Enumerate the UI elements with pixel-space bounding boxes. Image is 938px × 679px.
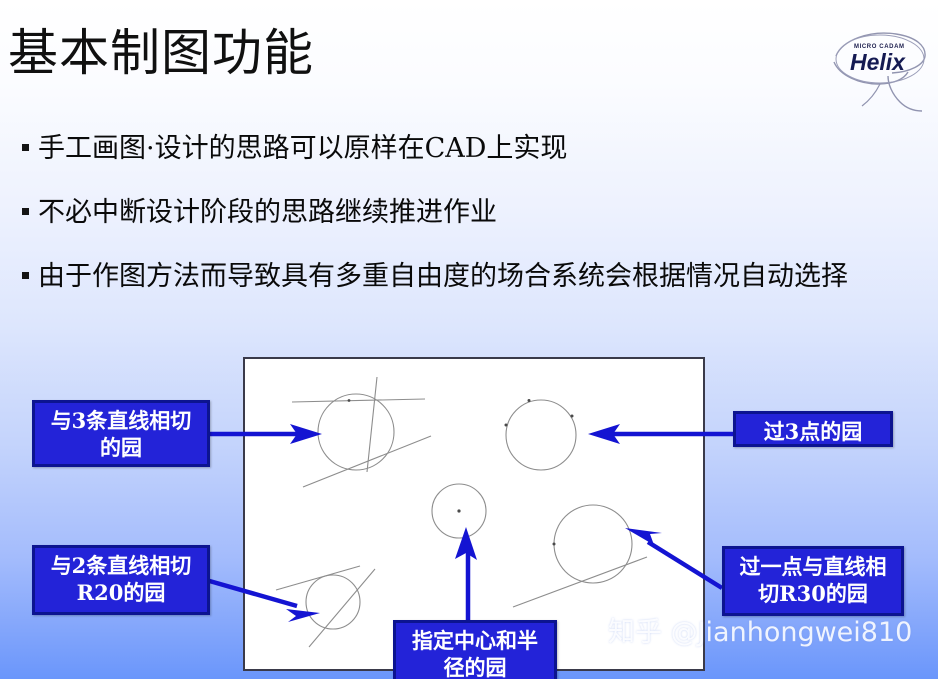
callout-tangent-3-lines[interactable]: 与3条直线相切的园: [32, 400, 210, 467]
slide-canvas: 基本制图功能 MICRO CADAM Helix 手工画图·设计的思路可以原样在…: [0, 0, 938, 679]
figure-circle-through-3-points: [505, 399, 577, 470]
watermark: 知乎 @Jianhongwei810: [608, 616, 912, 650]
page-title: 基本制图功能: [8, 24, 314, 82]
bullet-marker-icon: [22, 208, 29, 215]
callout-through-point-tangent-r30[interactable]: 过一点与直线相切R30的园: [722, 546, 904, 616]
bullet-text: 手工画图·设计的思路可以原样在CAD上实现: [38, 133, 567, 164]
logo-main-text: Helix: [850, 49, 906, 75]
bullet-marker-icon: [22, 144, 29, 151]
figure-circle-through-point-tangent-r30: [513, 505, 647, 607]
micro-cadam-helix-logo: MICRO CADAM Helix: [830, 22, 930, 114]
callout-center-and-radius[interactable]: 指定中心和半径的园: [393, 620, 557, 679]
bullet-item-3: 由于作图方法而导致具有多重自由度的场合系统会根据情况自动选择: [22, 258, 938, 296]
figure-circle-tangent-3-lines: [292, 377, 431, 487]
bullet-text: 由于作图方法而导致具有多重自由度的场合系统会根据情况自动选择: [38, 261, 848, 292]
callout-through-3-points[interactable]: 过3点的园: [733, 411, 893, 447]
callout-tangent-2-lines-r20[interactable]: 与2条直线相切R20的园: [32, 545, 210, 615]
bullet-marker-icon: [22, 272, 29, 279]
figure-circle-center-radius: [432, 484, 486, 538]
bullet-item-1: 手工画图·设计的思路可以原样在CAD上实现: [22, 130, 567, 168]
figure-circle-tangent-2-lines-r20: [276, 566, 375, 647]
bullet-text: 不必中断设计阶段的思路继续推进作业: [38, 197, 497, 228]
bullet-item-2: 不必中断设计阶段的思路继续推进作业: [22, 194, 497, 232]
